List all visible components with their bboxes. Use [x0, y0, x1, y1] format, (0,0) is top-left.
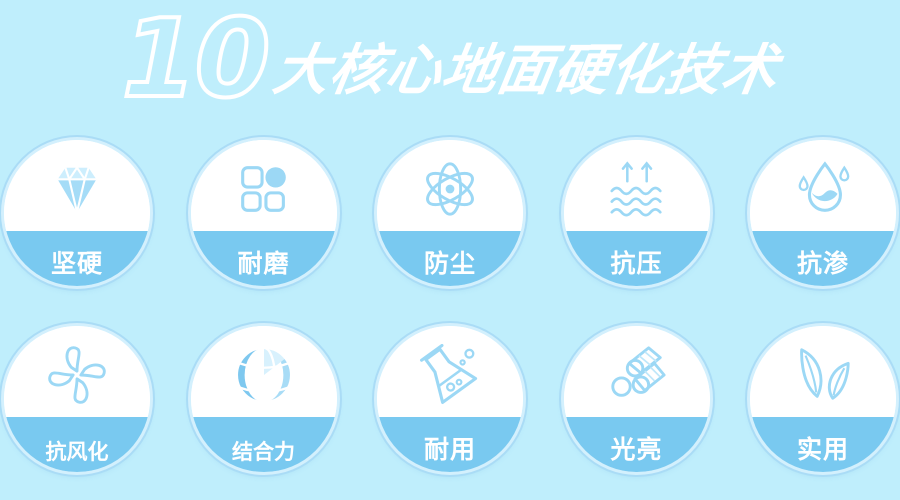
badge-weather-resistant[interactable]: 抗风化 — [4, 326, 150, 472]
badge-glossy[interactable]: 光亮 — [564, 326, 710, 472]
badge-label: 抗压 — [564, 252, 710, 277]
badge-hard[interactable]: 坚硬 — [4, 140, 150, 286]
badge-durable[interactable]: 耐用 — [377, 326, 523, 472]
grid-squares-icon — [231, 158, 297, 220]
flask-icon — [417, 344, 483, 406]
badge-impermeable[interactable]: 抗渗 — [750, 140, 896, 286]
badge-label: 抗渗 — [750, 252, 896, 277]
badge-label: 实用 — [750, 438, 896, 463]
leaves-icon — [790, 344, 856, 406]
badge-label: 防尘 — [377, 252, 523, 277]
badge-practical[interactable]: 实用 — [750, 326, 896, 472]
badge-label: 结合力 — [191, 442, 337, 463]
poster-root: 10 大核心地面硬化技术 坚硬 — [0, 0, 900, 500]
badge-label: 耐用 — [377, 438, 523, 463]
badge-wear-resistant[interactable]: 耐磨 — [191, 140, 337, 286]
badge-row-1: 坚硬 耐磨 — [0, 128, 900, 314]
poster-title: 10 大核心地面硬化技术 — [0, 8, 900, 120]
badge-row-2: 抗风化 结合力 — [0, 314, 900, 500]
water-droplet-icon — [790, 158, 856, 220]
headline-number: 10 — [122, 6, 268, 114]
sphere-icon — [231, 344, 297, 406]
feature-badge-grid: 坚硬 耐磨 — [0, 128, 900, 500]
badge-label: 光亮 — [564, 438, 710, 463]
badge-dustproof[interactable]: 防尘 — [377, 140, 523, 286]
headline-text: 大核心地面硬化技术 — [270, 43, 783, 98]
badge-label: 耐磨 — [191, 252, 337, 277]
arrows-waves-icon — [604, 158, 670, 220]
badge-label: 抗风化 — [4, 442, 150, 463]
badge-bonding-strength[interactable]: 结合力 — [191, 326, 337, 472]
badge-label: 坚硬 — [4, 252, 150, 277]
logs-cylinders-icon — [604, 344, 670, 406]
fan-blades-icon — [44, 344, 110, 406]
diamond-icon — [44, 158, 110, 220]
badge-pressure-resistant[interactable]: 抗压 — [564, 140, 710, 286]
atom-icon — [417, 158, 483, 220]
